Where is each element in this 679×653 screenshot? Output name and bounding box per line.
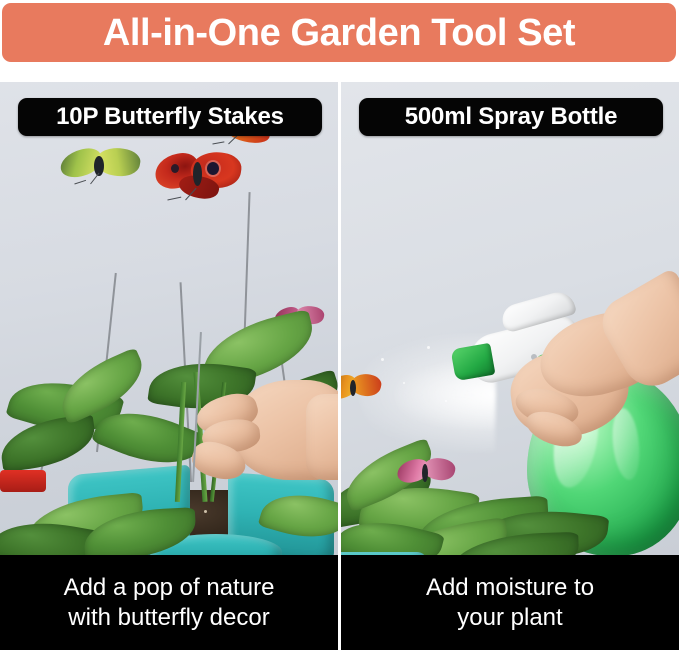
soil-fleck <box>204 510 207 513</box>
product-infographic: All-in-One Garden Tool Set <box>0 0 679 653</box>
caption-line-1: Add a pop of nature <box>64 573 275 603</box>
butterfly-antenna <box>167 197 181 201</box>
photo-spray-bottle: 500ml Spray Bottle <box>341 82 679 555</box>
butterfly-antenna <box>212 141 224 144</box>
red-pot-edge <box>0 470 46 492</box>
caption-spray-bottle: Add moisture to your plant <box>341 555 679 650</box>
butterfly-eyespot <box>171 164 179 173</box>
photo-butterfly-stakes: 10P Butterfly Stakes <box>0 82 338 555</box>
hand <box>491 274 679 464</box>
pink-butterfly <box>397 458 455 494</box>
product-badge-label: 500ml Spray Bottle <box>405 105 617 129</box>
product-badge-spray-bottle: 500ml Spray Bottle <box>359 98 663 136</box>
red-peacock-butterfly <box>155 150 241 208</box>
banner: All-in-One Garden Tool Set <box>2 3 676 62</box>
caption-line-2: your plant <box>457 603 562 633</box>
mist-droplet <box>445 400 447 402</box>
butterfly-antenna <box>74 180 86 185</box>
butterfly-antenna <box>90 173 99 185</box>
panel-spray-bottle: 500ml Spray Bottle Add moisture to your … <box>341 82 679 650</box>
product-badge-label: 10P Butterfly Stakes <box>56 105 284 129</box>
butterfly-body <box>193 162 202 186</box>
product-badge-butterfly-stakes: 10P Butterfly Stakes <box>18 98 322 136</box>
butterfly-eyespot <box>207 162 219 175</box>
butterfly-body <box>350 380 356 396</box>
caption-line-2: with butterfly decor <box>68 603 269 633</box>
caption-line-1: Add moisture to <box>426 573 594 603</box>
orange-butterfly <box>341 372 381 410</box>
mist-droplet <box>403 382 405 384</box>
mist-droplet <box>381 358 384 361</box>
yellow-green-butterfly <box>60 142 140 192</box>
caption-butterfly-stakes: Add a pop of nature with butterfly decor <box>0 555 338 650</box>
banner-title: All-in-One Garden Tool Set <box>103 14 575 52</box>
hand <box>186 352 338 502</box>
spray-nozzle <box>451 343 496 381</box>
hand-wrist <box>306 394 338 480</box>
butterfly-body <box>422 464 428 482</box>
panel-butterfly-stakes: 10P Butterfly Stakes Add a pop of nature… <box>0 82 338 650</box>
mist-droplet <box>427 346 430 349</box>
